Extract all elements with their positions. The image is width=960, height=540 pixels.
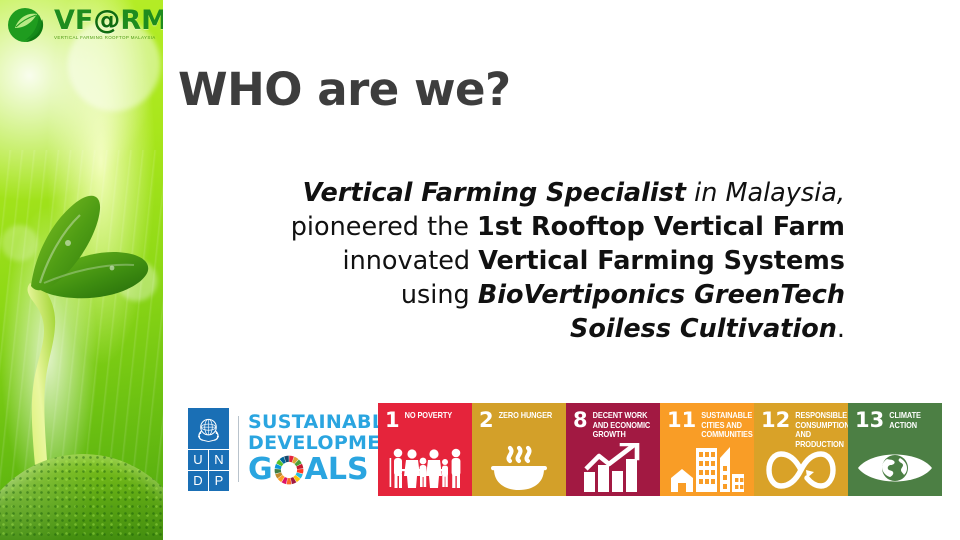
sdg-tile-1-number: 1 <box>385 410 400 430</box>
logo-tagline: VERTICAL FARMING ROOFTOP MALAYSIA <box>54 36 163 40</box>
sdg-tile-2-title: ZERO HUNGER <box>499 410 553 421</box>
sdg-tile-13-title: CLIMATE ACTION <box>889 410 937 430</box>
sdg-tile-12-title: RESPONSIBLE CONSUMPTION AND PRODUCTION <box>795 410 848 450</box>
body-line-2: pioneered the 1st Rooftop Vertical Farm <box>245 210 845 244</box>
sdg-tile-12[interactable]: 12 RESPONSIBLE CONSUMPTION AND PRODUCTIO… <box>754 403 848 496</box>
sdg-tile-2[interactable]: 2 ZERO HUNGER <box>472 403 566 496</box>
undp-emblem: U N D P <box>188 408 229 491</box>
body-line-2-emphasis: 1st Rooftop Vertical Farm <box>477 212 845 242</box>
un-globe-box <box>188 408 229 449</box>
logo-word-part1: VF <box>54 5 93 36</box>
infinity-loop-icon <box>754 446 848 494</box>
undp-letter-d: D <box>188 471 208 491</box>
sdg-tile-11-head: 11 SUSTAINABLE CITIES AND COMMUNITIES <box>667 410 749 437</box>
sdg-tile-12-number: 12 <box>761 410 790 430</box>
sdg-tile-11-number: 11 <box>667 410 696 430</box>
sdg-tile-2-head: 2 ZERO HUNGER <box>479 410 561 430</box>
logo-at-symbol: @ <box>93 5 120 36</box>
lockup-divider <box>238 416 239 482</box>
sdg-tile-8[interactable]: 8 DECENT WORK AND ECONOMIC GROWTH <box>566 403 660 496</box>
left-photo-panel: VF@RM VERTICAL FARMING ROOFTOP MALAYSIA <box>0 0 163 540</box>
sdg-tile-13-number: 13 <box>855 410 884 430</box>
body-line-5: Soiless Cultivation. <box>245 312 845 346</box>
body-line-4-emphasis: BioVertiponics GreenTech <box>478 280 845 310</box>
sdg-tile-1-title: NO POVERTY <box>405 410 452 421</box>
body-line-1-emphasis: Vertical Farming Specialist <box>303 178 686 208</box>
undp-letter-grid: U N D P <box>188 450 229 491</box>
leaf-swirl-icon <box>6 5 50 45</box>
sdg-tile-2-number: 2 <box>479 410 494 430</box>
sdg-tile-1[interactable]: 1 NO POVERTY <box>378 403 472 496</box>
body-line-3: innovated Vertical Farming Systems <box>245 244 845 278</box>
body-line-5-period: . <box>837 314 845 344</box>
sdg-tile-11[interactable]: 11 SUSTAINABLE CITIES AND COMMUNITIES <box>660 403 754 496</box>
body-line-3-lead: innovated <box>342 246 478 276</box>
city-buildings-icon <box>660 444 754 492</box>
sdg-tile-8-title: DECENT WORK AND ECONOMIC GROWTH <box>593 410 655 440</box>
sdg-goal-tiles: 1 NO POVERTY <box>378 403 942 496</box>
sdg-tile-11-title: SUSTAINABLE CITIES AND COMMUNITIES <box>701 410 752 440</box>
sdg-tile-8-number: 8 <box>573 410 588 430</box>
page-title: WHO are we? <box>178 66 511 115</box>
body-line-4-lead: using <box>401 280 478 310</box>
body-line-1: Vertical Farming Specialist in Malaysia, <box>245 176 845 210</box>
body-line-1-rest: in Malaysia, <box>686 178 845 208</box>
undp-letter-u: U <box>188 450 208 470</box>
sdg-goals-rest: ALS <box>305 455 369 485</box>
sdg-tile-12-head: 12 RESPONSIBLE CONSUMPTION AND PRODUCTIO… <box>761 410 843 445</box>
steaming-bowl-icon <box>472 444 566 492</box>
body-line-3-emphasis: Vertical Farming Systems <box>478 246 845 276</box>
body-line-5-emphasis: Soiless Cultivation <box>570 314 837 344</box>
logo-wordmark: VF@RM <box>54 7 163 34</box>
un-globe-laurel-icon <box>194 414 223 443</box>
sdg-tile-8-head: 8 DECENT WORK AND ECONOMIC GROWTH <box>573 410 655 437</box>
body-line-4: using BioVertiponics GreenTech <box>245 278 845 312</box>
eye-globe-icon <box>848 444 942 492</box>
growth-bar-chart-icon <box>566 444 660 492</box>
body-paragraph: Vertical Farming Specialist in Malaysia,… <box>245 176 845 346</box>
body-line-2-lead: pioneered the <box>291 212 477 242</box>
sdg-color-wheel-icon <box>274 455 304 485</box>
vfarm-logo[interactable]: VF@RM VERTICAL FARMING ROOFTOP MALAYSIA <box>6 3 163 47</box>
logo-word-part2: RM <box>120 5 163 36</box>
sdg-goals-g: G <box>248 455 273 485</box>
family-group-icon <box>378 444 472 492</box>
sdg-tile-1-head: 1 NO POVERTY <box>385 410 467 430</box>
sdg-tile-13[interactable]: 13 CLIMATE ACTION <box>848 403 942 496</box>
undp-letter-n: N <box>209 450 229 470</box>
slide-canvas: VF@RM VERTICAL FARMING ROOFTOP MALAYSIA … <box>0 0 960 540</box>
sdg-tile-13-head: 13 CLIMATE ACTION <box>855 410 937 430</box>
undp-letter-p: P <box>209 471 229 491</box>
undp-sdg-lockup: U N D P SUSTAINABLE DEVELOPMENT G ALS <box>188 406 410 492</box>
